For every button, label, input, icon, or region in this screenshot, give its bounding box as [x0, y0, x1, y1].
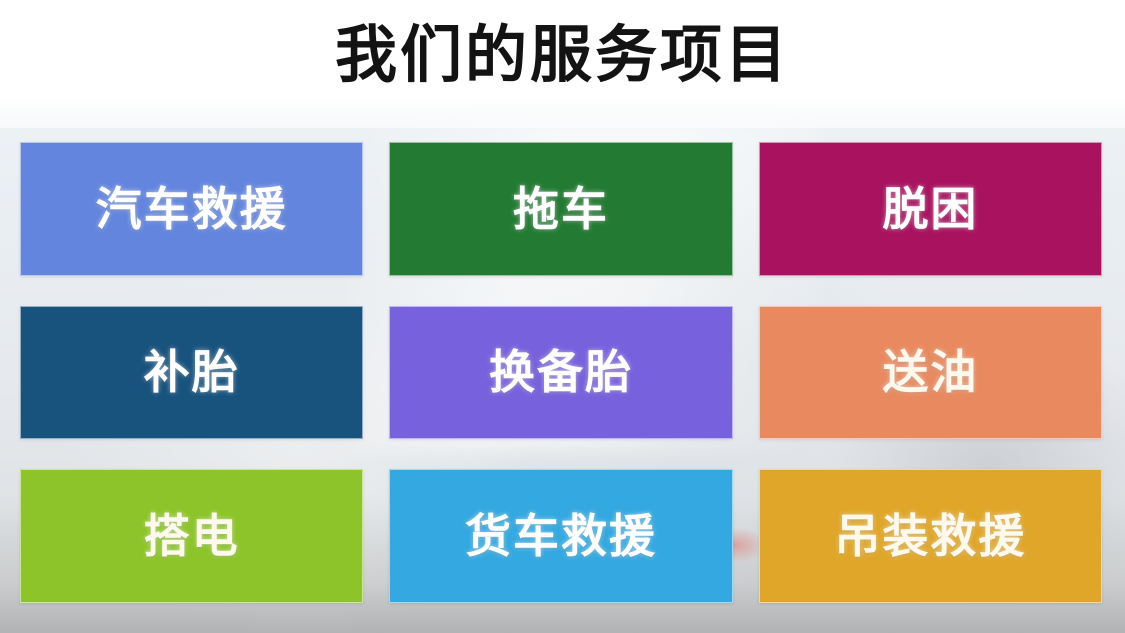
service-tile-extrication[interactable]: 脱困 — [759, 142, 1102, 276]
service-tile-label: 吊装救援 — [834, 513, 1026, 559]
service-tile-label: 换备胎 — [489, 349, 633, 395]
page-title: 我们的服务项目 — [0, 22, 1125, 90]
service-tile-tow-truck[interactable]: 拖车 — [389, 142, 732, 276]
service-tile-hoisting-rescue[interactable]: 吊装救援 — [759, 469, 1102, 603]
service-tile-label: 货车救援 — [465, 513, 657, 559]
service-tile-label: 拖车 — [513, 186, 609, 232]
service-grid: 汽车救援 拖车 脱困 补胎 换备胎 送油 搭电 货车救援 吊装救援 — [20, 142, 1102, 603]
service-tile-label: 送油 — [882, 349, 978, 395]
service-tile-fuel-delivery[interactable]: 送油 — [759, 306, 1102, 440]
service-poster: 我们的服务项目 汽车救援 拖车 脱困 补胎 换备胎 送油 搭电 货车救援 吊装救… — [0, 0, 1125, 633]
service-tile-label: 脱困 — [882, 186, 978, 232]
service-tile-car-rescue[interactable]: 汽车救援 — [20, 142, 363, 276]
service-tile-label: 汽车救援 — [96, 186, 288, 232]
service-tile-tire-repair[interactable]: 补胎 — [20, 306, 363, 440]
service-tile-truck-rescue[interactable]: 货车救援 — [389, 469, 732, 603]
service-tile-spare-tire-change[interactable]: 换备胎 — [389, 306, 732, 440]
service-tile-label: 补胎 — [144, 349, 240, 395]
service-tile-label: 搭电 — [144, 513, 240, 559]
service-tile-jump-start[interactable]: 搭电 — [20, 469, 363, 603]
